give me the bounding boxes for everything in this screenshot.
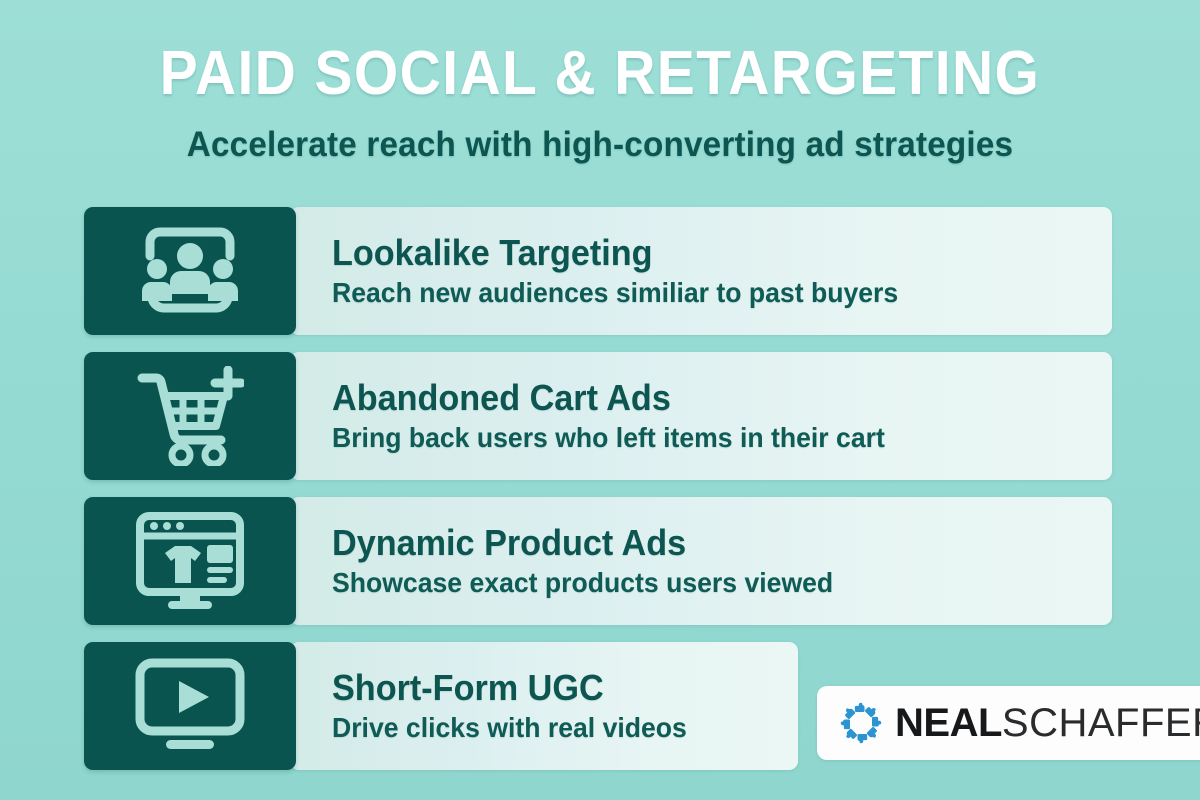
audience-group-icon [136,222,244,320]
header: PAID SOCIAL & RETARGETING Accelerate rea… [0,40,1200,166]
page-subtitle: Accelerate reach with high-converting ad… [30,124,1170,166]
brand-logo: NEALSCHAFFER [817,686,1200,760]
video-play-monitor-icon [135,658,245,754]
list-item-description: Bring back users who left items in their… [332,421,1073,455]
list-item: Lookalike Targeting Reach new audiences … [84,207,1112,335]
icon-tile [84,207,296,335]
list-item-title: Abandoned Cart Ads [332,378,1073,418]
logo-name-light: SCHAFFER [1002,701,1200,745]
list-item-description: Drive clicks with real videos [332,711,775,745]
list-item-description: Reach new audiences similiar to past buy… [332,276,1073,310]
logo-name-bold: NEAL [895,701,1002,745]
list-item-description: Showcase exact products users viewed [332,566,1073,600]
content-card: Abandoned Cart Ads Bring back users who … [290,352,1112,480]
content-card: Dynamic Product Ads Showcase exact produ… [290,497,1112,625]
shopping-cart-plus-icon [136,366,244,466]
list-item: Dynamic Product Ads Showcase exact produ… [84,497,1112,625]
logo-wordmark: NEALSCHAFFER [895,701,1200,745]
icon-tile [84,352,296,480]
list-item-title: Short-Form UGC [332,668,775,708]
content-card: Short-Form UGC Drive clicks with real vi… [290,642,798,770]
product-page-monitor-icon [135,511,245,611]
content-card: Lookalike Targeting Reach new audiences … [290,207,1112,335]
page-title: PAID SOCIAL & RETARGETING [48,40,1152,108]
list-item-title: Dynamic Product Ads [332,523,1073,563]
thumbs-up-circle-icon [839,701,883,745]
list-item: Abandoned Cart Ads Bring back users who … [84,352,1112,480]
icon-tile [84,642,296,770]
infographic-poster: PAID SOCIAL & RETARGETING Accelerate rea… [0,0,1200,800]
icon-tile [84,497,296,625]
list-item-title: Lookalike Targeting [332,233,1073,273]
